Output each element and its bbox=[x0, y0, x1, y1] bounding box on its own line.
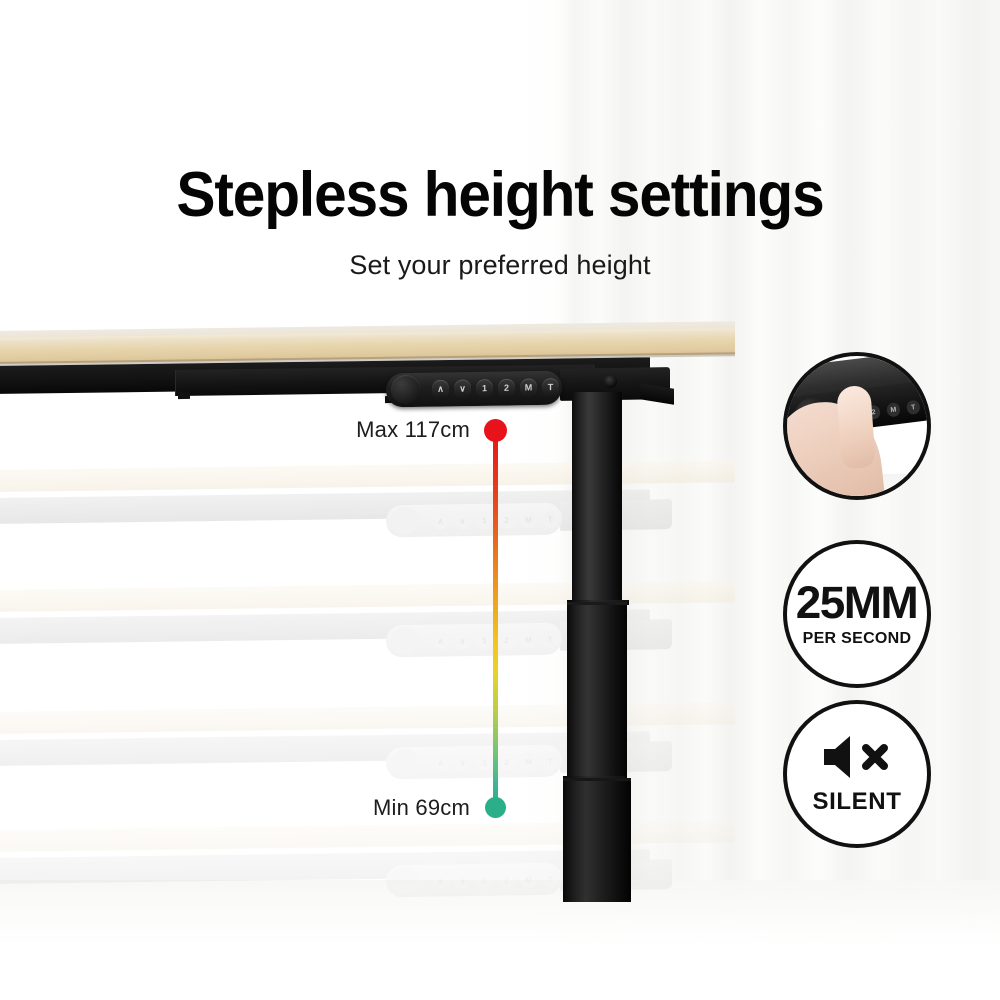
control-button-T[interactable]: T bbox=[542, 378, 559, 397]
ghost-control-button: T bbox=[542, 870, 559, 888]
ghost-control-button: T bbox=[542, 630, 559, 648]
product-feature-image: ∧∨12MT∧∨12MT∧∨12MT∧∨12MT ∧∨12MT Max 117c… bbox=[0, 0, 1000, 1000]
ghost-control-button: M bbox=[520, 630, 537, 648]
photo-control-button-M: M bbox=[886, 402, 901, 417]
ghost-control-button: M bbox=[520, 752, 537, 770]
ghost-control-button: 2 bbox=[498, 753, 515, 771]
leg-bracket-hole bbox=[604, 375, 617, 388]
control-button-2[interactable]: 2 bbox=[498, 379, 515, 398]
min-height-marker-dot bbox=[485, 797, 506, 818]
ghost-control-button: T bbox=[542, 752, 559, 770]
badge-silent: SILENT bbox=[783, 700, 931, 848]
ghost-control-button: ∨ bbox=[454, 511, 471, 529]
ghost-control-button: ∨ bbox=[454, 631, 471, 649]
ghost-control-button: ∧ bbox=[432, 754, 449, 772]
speed-value: 25MM bbox=[796, 580, 917, 625]
height-range-gradient-line bbox=[493, 428, 498, 810]
ghost-control-button: T bbox=[542, 510, 559, 528]
ghost-control-buttons: ∧∨12MT bbox=[432, 870, 559, 890]
ghost-control-button: M bbox=[520, 510, 537, 528]
control-button-1[interactable]: 1 bbox=[476, 379, 493, 398]
ghost-control-button: 2 bbox=[498, 631, 515, 649]
control-button-M[interactable]: M bbox=[520, 378, 537, 397]
leg-segment-upper bbox=[572, 392, 622, 606]
control-panel-buttons[interactable]: ∧∨12MT bbox=[432, 378, 559, 399]
ghost-control-button: 2 bbox=[498, 871, 515, 889]
leg-segment-lower bbox=[563, 778, 631, 902]
ghost-control-button: 1 bbox=[476, 631, 493, 649]
photo-finger bbox=[836, 385, 876, 469]
badge-controller-photo: 12MT bbox=[783, 352, 931, 500]
control-button-down[interactable]: ∨ bbox=[454, 379, 471, 398]
frame-foot bbox=[178, 392, 190, 399]
ghost-control-button: 2 bbox=[498, 511, 515, 529]
control-button-up[interactable]: ∧ bbox=[432, 380, 449, 399]
min-height-label: Min 69cm bbox=[185, 795, 470, 821]
speed-unit: PER SECOND bbox=[803, 630, 912, 648]
photo-control-button-T: T bbox=[906, 400, 921, 415]
leg-segment-middle bbox=[567, 602, 627, 782]
ghost-control-button: ∧ bbox=[432, 512, 449, 530]
ghost-control-button: ∧ bbox=[432, 632, 449, 650]
ghost-control-button: M bbox=[520, 870, 537, 888]
silent-label: SILENT bbox=[813, 788, 902, 816]
page-subtitle: Set your preferred height bbox=[0, 248, 1000, 282]
floor bbox=[0, 880, 1000, 1000]
badge-speed: 25MM PER SECOND bbox=[783, 540, 931, 688]
ghost-control-button: ∧ bbox=[432, 872, 449, 890]
ghost-control-button: 1 bbox=[476, 871, 493, 889]
page-title: Stepless height settings bbox=[35, 160, 965, 230]
ghost-control-button: 1 bbox=[476, 511, 493, 529]
ghost-control-button: ∨ bbox=[454, 753, 471, 771]
ghost-control-button: ∨ bbox=[454, 871, 471, 889]
max-height-label: Max 117cm bbox=[185, 417, 470, 443]
mute-speaker-icon bbox=[820, 732, 894, 782]
max-height-marker-dot bbox=[484, 419, 507, 442]
ghost-control-button: 1 bbox=[476, 753, 493, 771]
